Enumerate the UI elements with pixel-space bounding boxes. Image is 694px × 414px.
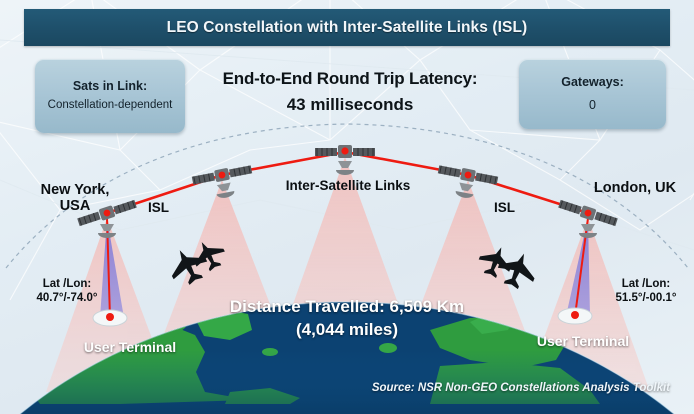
panel-gateways: Gateways: 0 [519,59,666,129]
diagram-canvas: LEO Constellation with Inter-Satellite L… [0,0,694,414]
label-isl-right: ISL [494,200,515,215]
latlon-left: Lat /Lon: 40.7°/-74.0° [12,277,122,306]
label-isl-left: ISL [148,200,169,215]
page-title: LEO Constellation with Inter-Satellite L… [167,19,528,37]
distance-travelled: Distance Travelled: 6,509 Km (4,044 mile… [177,296,517,342]
panel-latency: End-to-End Round Trip Latency: 43 millis… [190,60,510,124]
gateways-label: Gateways: [561,75,624,91]
latlon-left-label: Lat /Lon: [12,277,122,291]
latency-label: End-to-End Round Trip Latency: [223,69,478,89]
sats-in-link-label: Sats in Link: [73,79,147,95]
latlon-right-value: 51.5°/-00.1° [596,291,694,305]
distance-km: Distance Travelled: 6,509 Km [177,296,517,319]
user-terminal-icon [558,308,592,324]
label-city-right: London, UK [592,180,678,196]
panel-sats-in-link: Sats in Link: Constellation-dependent [35,59,185,133]
page-title-bar: LEO Constellation with Inter-Satellite L… [24,9,670,46]
latlon-right: Lat /Lon: 51.5°/-00.1° [596,277,694,306]
satellite-icon [191,163,255,203]
label-inter-satellite-links: Inter-Satellite Links [258,178,438,193]
label-user-terminal-left: User Terminal [75,339,185,356]
latlon-left-value: 40.7°/-74.0° [12,291,122,305]
latency-value: 43 milliseconds [287,95,414,115]
distance-miles: (4,044 miles) [177,319,517,342]
gateways-value: 0 [589,97,596,113]
label-user-terminal-right: User Terminal [528,333,638,350]
label-city-left: New York, USA [32,182,118,214]
sats-in-link-value: Constellation-dependent [48,98,173,113]
user-terminal-icon [93,310,127,326]
latlon-right-label: Lat /Lon: [596,277,694,291]
satellite-icon [434,163,498,203]
source-attribution: Source: NSR Non-GEO Constellations Analy… [324,382,670,394]
